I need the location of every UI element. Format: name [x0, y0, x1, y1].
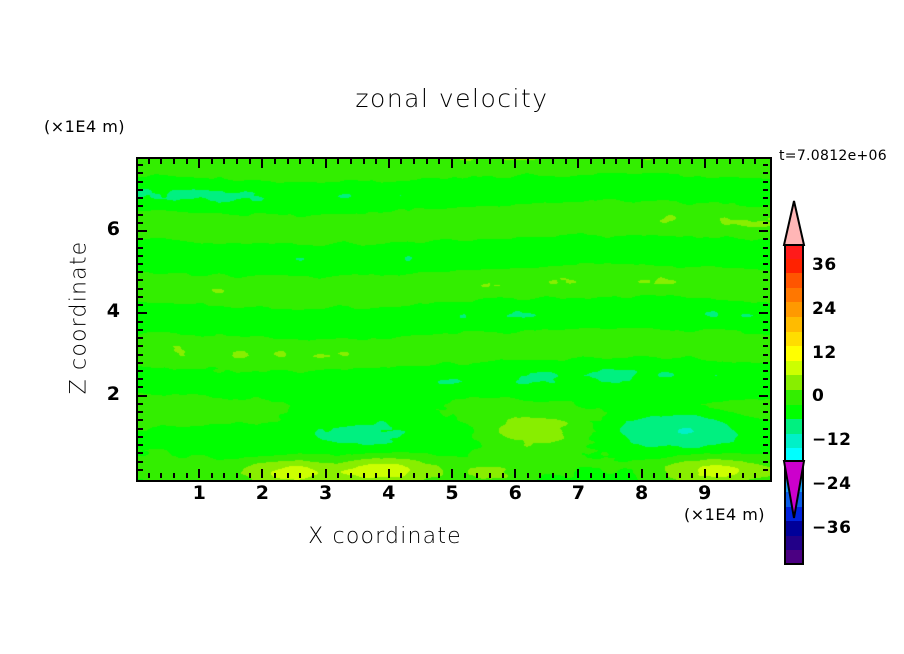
- x-tick: [148, 159, 150, 164]
- x-tick: [704, 159, 706, 168]
- x-tick: [527, 159, 529, 164]
- x-tick: [160, 159, 162, 164]
- x-tick-label: 1: [179, 482, 219, 504]
- x-tick: [628, 159, 630, 164]
- y-tick: [759, 312, 768, 314]
- x-tick: [603, 473, 605, 478]
- contour-plot-area: [136, 157, 772, 482]
- x-tick: [729, 159, 731, 164]
- x-tick: [350, 473, 352, 478]
- x-tick: [641, 159, 643, 168]
- x-tick: [426, 159, 428, 164]
- colorbar-tick-label: 24: [812, 299, 837, 319]
- x-tick: [565, 159, 567, 164]
- colorbar-overflow-high-arrow: [782, 200, 806, 246]
- x-tick: [742, 473, 744, 478]
- x-tick: [691, 473, 693, 478]
- x-tick: [148, 473, 150, 478]
- x-tick: [312, 159, 314, 164]
- colorbar-tick-label: 0: [812, 386, 824, 406]
- y-tick: [763, 181, 768, 183]
- y-tick: [138, 189, 143, 191]
- x-tick: [489, 159, 491, 164]
- y-tick: [763, 238, 768, 240]
- x-tick: [603, 159, 605, 164]
- x-tick: [261, 159, 263, 168]
- y-tick: [138, 230, 147, 232]
- x-tick: [754, 473, 756, 478]
- y-tick: [138, 386, 143, 388]
- y-tick: [138, 428, 143, 430]
- y-tick: [138, 296, 143, 298]
- x-tick: [653, 159, 655, 164]
- y-tick: [138, 205, 143, 207]
- x-tick: [299, 473, 301, 478]
- colorbar-band: [784, 244, 804, 259]
- x-tick: [704, 469, 706, 478]
- x-tick: [186, 473, 188, 478]
- x-tick: [337, 159, 339, 164]
- x-tick: [413, 159, 415, 164]
- x-tick: [198, 469, 200, 478]
- x-tick: [539, 159, 541, 164]
- y-tick: [138, 461, 143, 463]
- y-tick: [763, 214, 768, 216]
- y-tick-label: 6: [86, 218, 120, 240]
- x-tick-label: 3: [306, 482, 346, 504]
- y-tick: [763, 247, 768, 249]
- x-tick: [451, 469, 453, 478]
- y-tick-label: 2: [86, 383, 120, 405]
- colorbar-band: [784, 434, 804, 449]
- x-tick: [565, 473, 567, 478]
- x-axis-unit-label: (×1E4 m): [684, 505, 765, 524]
- y-tick: [763, 370, 768, 372]
- x-tick: [426, 473, 428, 478]
- x-tick: [438, 473, 440, 478]
- x-tick: [716, 159, 718, 164]
- colorbar-tick-label: 36: [812, 255, 837, 275]
- x-tick: [363, 473, 365, 478]
- y-tick: [138, 378, 143, 380]
- colorbar-band: [784, 536, 804, 551]
- y-tick: [138, 238, 143, 240]
- x-tick: [628, 473, 630, 478]
- x-tick: [173, 473, 175, 478]
- y-tick: [763, 164, 768, 166]
- x-tick: [754, 159, 756, 164]
- y-tick: [763, 362, 768, 364]
- y-tick: [138, 452, 143, 454]
- y-tick: [763, 452, 768, 454]
- x-tick: [287, 473, 289, 478]
- colorbar-overflow-low-arrow: [782, 460, 806, 520]
- y-tick: [138, 222, 143, 224]
- x-tick: [236, 473, 238, 478]
- colorbar-tick-label: 12: [812, 343, 837, 363]
- colorbar-band: [784, 550, 804, 565]
- x-tick: [274, 473, 276, 478]
- y-tick: [763, 197, 768, 199]
- y-tick: [763, 222, 768, 224]
- y-tick-label: 4: [86, 300, 120, 322]
- x-tick: [350, 159, 352, 164]
- x-tick-label: 6: [495, 482, 535, 504]
- colorbar-band: [784, 273, 804, 288]
- y-tick: [763, 288, 768, 290]
- colorbar-tick-label: −12: [812, 430, 851, 450]
- y-tick: [138, 419, 143, 421]
- x-axis-title: X coordinate: [0, 524, 770, 549]
- timestamp-label: t=7.0812e+06: [779, 148, 887, 164]
- colorbar-band: [784, 317, 804, 332]
- y-tick: [759, 230, 768, 232]
- x-tick: [186, 159, 188, 164]
- x-tick: [476, 473, 478, 478]
- x-tick: [552, 473, 554, 478]
- x-tick: [173, 159, 175, 164]
- colorbar-band: [784, 375, 804, 390]
- x-tick: [476, 159, 478, 164]
- x-tick: [539, 473, 541, 478]
- y-tick: [138, 354, 143, 356]
- y-tick: [763, 403, 768, 405]
- colorbar-band: [784, 288, 804, 303]
- y-tick: [763, 354, 768, 356]
- x-tick-label: 5: [432, 482, 472, 504]
- y-tick: [138, 271, 143, 273]
- x-tick: [261, 469, 263, 478]
- colorbar-band: [784, 405, 804, 420]
- y-tick: [763, 263, 768, 265]
- x-tick: [337, 473, 339, 478]
- x-tick: [679, 473, 681, 478]
- y-tick: [138, 436, 143, 438]
- y-tick: [138, 255, 143, 257]
- y-tick: [138, 181, 143, 183]
- x-tick: [666, 159, 668, 164]
- y-axis-unit-label: (×1E4 m): [44, 117, 125, 136]
- x-tick: [577, 469, 579, 478]
- x-tick: [299, 159, 301, 164]
- y-tick: [138, 263, 143, 265]
- x-tick-label: 8: [622, 482, 662, 504]
- x-tick-label: 4: [369, 482, 409, 504]
- x-tick: [464, 473, 466, 478]
- x-tick: [489, 473, 491, 478]
- y-tick: [759, 395, 768, 397]
- x-tick: [514, 159, 516, 168]
- x-tick: [527, 473, 529, 478]
- y-tick: [763, 469, 768, 471]
- x-tick: [577, 159, 579, 168]
- y-tick: [763, 419, 768, 421]
- y-tick: [763, 255, 768, 257]
- y-tick: [763, 329, 768, 331]
- y-tick: [763, 386, 768, 388]
- y-tick: [138, 370, 143, 372]
- colorbar-tick-label: −36: [812, 518, 851, 538]
- y-tick: [138, 279, 143, 281]
- x-tick: [249, 473, 251, 478]
- y-tick: [763, 411, 768, 413]
- y-tick: [763, 436, 768, 438]
- y-tick: [763, 172, 768, 174]
- y-tick: [763, 189, 768, 191]
- colorbar-tick-label: −24: [812, 474, 851, 494]
- x-tick: [679, 159, 681, 164]
- x-tick: [198, 159, 200, 168]
- x-tick: [375, 159, 377, 164]
- page-title: zonal velocity: [0, 84, 904, 113]
- x-tick: [451, 159, 453, 168]
- colorbar-band: [784, 521, 804, 536]
- x-tick: [211, 159, 213, 164]
- x-tick: [716, 473, 718, 478]
- y-tick: [138, 395, 147, 397]
- x-tick: [590, 159, 592, 164]
- y-tick: [763, 444, 768, 446]
- x-tick: [502, 473, 504, 478]
- colorbar-band: [784, 346, 804, 361]
- y-tick: [763, 205, 768, 207]
- y-tick: [763, 345, 768, 347]
- colorbar-band: [784, 259, 804, 274]
- x-tick: [438, 159, 440, 164]
- y-tick: [138, 288, 143, 290]
- x-tick: [325, 469, 327, 478]
- x-tick: [615, 473, 617, 478]
- x-tick: [236, 159, 238, 164]
- y-tick: [763, 461, 768, 463]
- x-tick-label: 2: [242, 482, 282, 504]
- colorbar-band: [784, 332, 804, 347]
- y-tick: [138, 321, 143, 323]
- x-tick: [388, 159, 390, 168]
- y-tick: [138, 329, 143, 331]
- y-tick: [138, 197, 143, 199]
- x-tick: [388, 469, 390, 478]
- y-tick: [138, 403, 143, 405]
- y-tick: [763, 279, 768, 281]
- x-tick: [312, 473, 314, 478]
- x-tick: [400, 159, 402, 164]
- y-tick: [763, 296, 768, 298]
- x-tick: [653, 473, 655, 478]
- y-tick: [138, 337, 143, 339]
- y-tick: [138, 345, 143, 347]
- colorbar-band: [784, 419, 804, 434]
- y-tick: [138, 247, 143, 249]
- contour-field: [138, 159, 770, 480]
- x-tick: [223, 473, 225, 478]
- x-tick: [363, 159, 365, 164]
- x-tick: [514, 469, 516, 478]
- x-tick: [615, 159, 617, 164]
- y-tick: [763, 321, 768, 323]
- y-tick: [138, 214, 143, 216]
- y-tick: [138, 304, 143, 306]
- x-tick: [552, 159, 554, 164]
- x-tick: [666, 473, 668, 478]
- y-tick: [138, 362, 143, 364]
- y-tick: [763, 271, 768, 273]
- x-tick: [729, 473, 731, 478]
- x-tick: [400, 473, 402, 478]
- x-tick: [249, 159, 251, 164]
- x-tick: [211, 473, 213, 478]
- x-tick: [160, 473, 162, 478]
- colorbar-band: [784, 390, 804, 405]
- x-tick: [464, 159, 466, 164]
- x-tick: [590, 473, 592, 478]
- y-tick: [138, 469, 143, 471]
- x-tick: [691, 159, 693, 164]
- y-tick: [138, 172, 143, 174]
- colorbar-band: [784, 302, 804, 317]
- x-tick: [274, 159, 276, 164]
- x-tick-label: 7: [558, 482, 598, 504]
- x-tick: [375, 473, 377, 478]
- y-tick: [763, 304, 768, 306]
- colorbar-band: [784, 361, 804, 376]
- x-tick: [502, 159, 504, 164]
- y-tick: [763, 337, 768, 339]
- y-tick: [138, 164, 143, 166]
- x-tick: [223, 159, 225, 164]
- x-tick: [413, 473, 415, 478]
- y-tick: [763, 378, 768, 380]
- y-tick: [138, 444, 143, 446]
- y-tick: [138, 312, 147, 314]
- x-tick: [325, 159, 327, 168]
- y-tick: [763, 428, 768, 430]
- x-tick: [742, 159, 744, 164]
- x-tick: [641, 469, 643, 478]
- x-tick-label: 9: [685, 482, 725, 504]
- x-tick: [287, 159, 289, 164]
- y-tick: [138, 411, 143, 413]
